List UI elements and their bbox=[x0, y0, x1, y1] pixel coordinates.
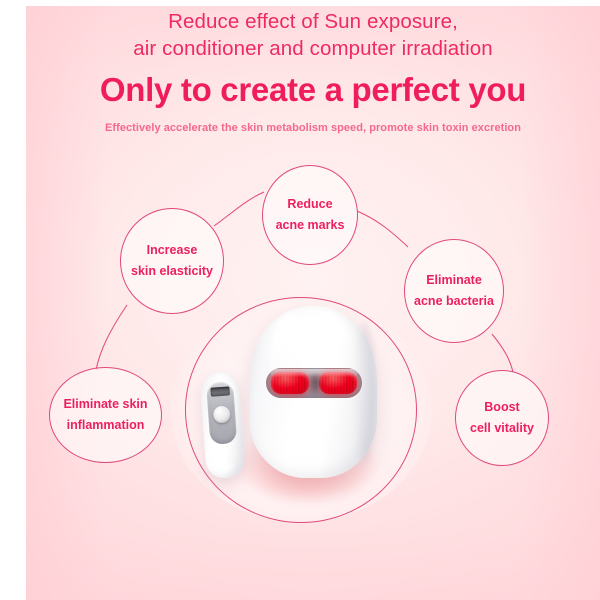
header-block: Reduce effect of Sun exposure, air condi… bbox=[26, 8, 600, 136]
remote-control-panel bbox=[206, 381, 237, 445]
benefit-label-line2: cell vitality bbox=[470, 418, 534, 439]
benefit-label-line1: Reduce bbox=[287, 194, 332, 215]
benefit-bubble-reduce-acne-marks[interactable]: Reduce acne marks bbox=[262, 165, 358, 265]
remote-power-button bbox=[213, 405, 231, 423]
benefit-label-line2: acne marks bbox=[276, 215, 345, 236]
led-face-mask-product-image bbox=[185, 296, 419, 526]
handheld-remote-control bbox=[199, 371, 245, 479]
lead-line-1: Reduce effect of Sun exposure, bbox=[26, 8, 600, 35]
remote-lcd-screen bbox=[210, 386, 230, 396]
product-infographic-poster: Reduce effect of Sun exposure, air condi… bbox=[0, 0, 600, 600]
mask-highlight-nose bbox=[285, 410, 333, 470]
page-title: Only to create a perfect you bbox=[26, 69, 600, 110]
face-mask-shell bbox=[249, 306, 377, 478]
lead-line-2: air conditioner and computer irradiation bbox=[26, 35, 600, 62]
subtitle: Effectively accelerate the skin metaboli… bbox=[26, 120, 600, 136]
benefit-bubble-eliminate-acne-bacteria[interactable]: Eliminate acne bacteria bbox=[404, 239, 504, 343]
benefit-label-line1: Boost bbox=[484, 397, 519, 418]
benefit-label-line1: Eliminate skin bbox=[63, 394, 147, 415]
benefit-label-line2: acne bacteria bbox=[414, 291, 494, 312]
benefit-bubble-boost-cell-vitality[interactable]: Boost cell vitality bbox=[455, 370, 549, 466]
benefit-label-line1: Increase bbox=[147, 240, 198, 261]
remote-bottom-highlight bbox=[216, 461, 235, 472]
benefit-label-line1: Eliminate bbox=[426, 270, 482, 291]
benefit-label-line2: inflammation bbox=[67, 415, 145, 436]
red-led-visor bbox=[266, 368, 362, 398]
benefit-label-line2: skin elasticity bbox=[131, 261, 213, 282]
visor-gloss bbox=[270, 369, 358, 377]
benefit-bubble-eliminate-skin-inflammation[interactable]: Eliminate skin inflammation bbox=[49, 367, 162, 463]
